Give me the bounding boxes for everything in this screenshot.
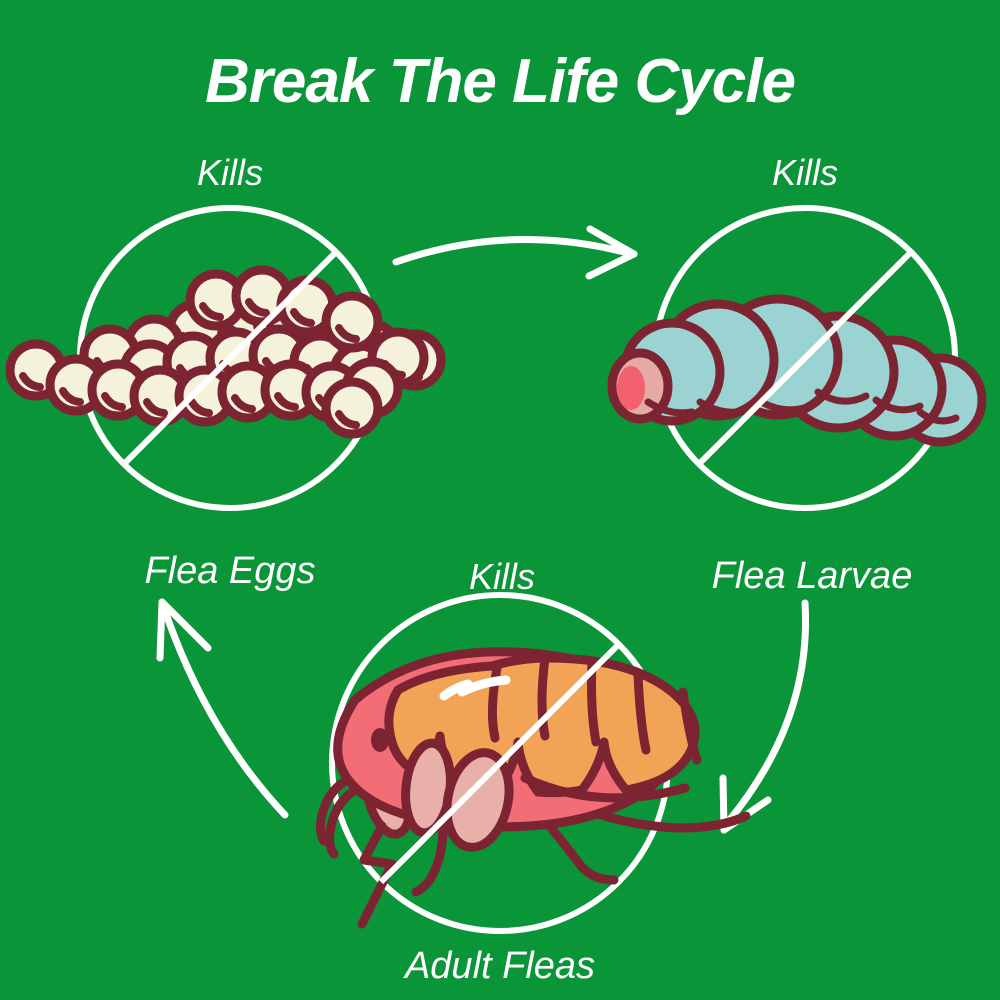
stage-label-adult-fleas: Adult Fleas: [403, 945, 595, 987]
page-title: Break The Life Cycle: [205, 47, 795, 116]
stage-label-flea-eggs: Flea Eggs: [144, 550, 315, 592]
kills-label-adults: Kills: [469, 556, 535, 597]
infographic-canvas: Break The Life Cycle Kills: [0, 0, 1000, 1000]
kills-label-eggs: Kills: [197, 152, 263, 193]
kills-label-larvae: Kills: [772, 152, 838, 193]
life-cycle-diagram: Break The Life Cycle Kills: [0, 0, 1000, 1000]
stage-label-flea-larvae: Flea Larvae: [712, 555, 913, 597]
